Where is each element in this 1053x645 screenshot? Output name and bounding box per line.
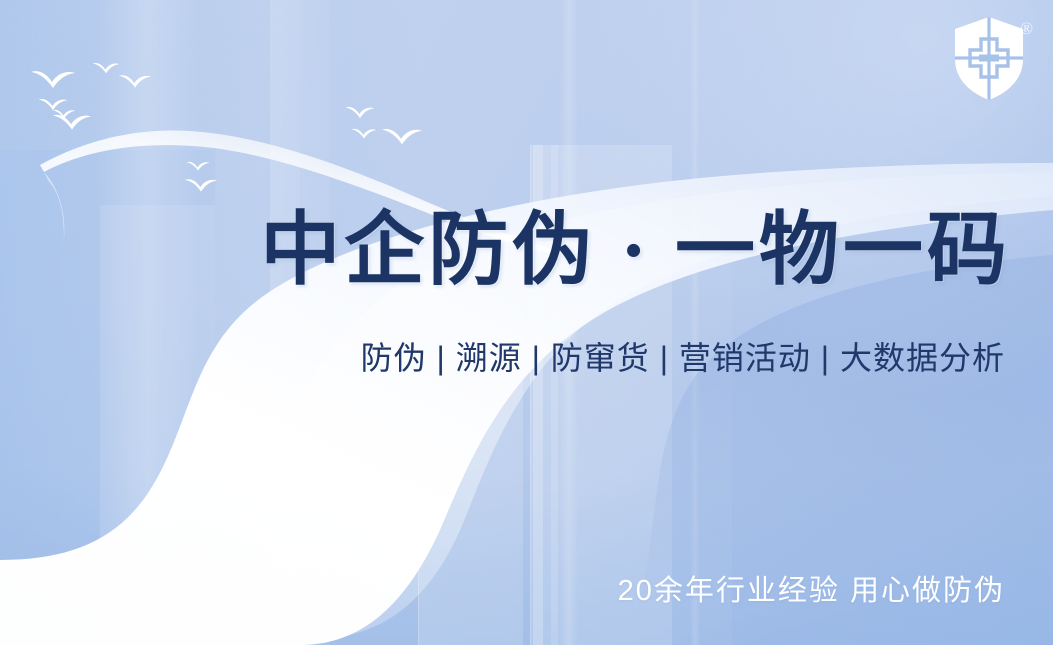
seagull-icon bbox=[52, 112, 92, 135]
brand-logo: ® bbox=[943, 12, 1035, 104]
banner-title: 中企防伪 · 一物一码 bbox=[0, 185, 1011, 301]
seagull-icon bbox=[118, 73, 152, 92]
seagull-icon bbox=[381, 126, 423, 150]
banner-subtitle: 防伪 | 溯源 | 防窜货 | 营销活动 | 大数据分析 bbox=[0, 333, 1005, 379]
banner-tagline: 20余年行业经验 用心做防伪 bbox=[0, 567, 1005, 609]
seagull-icon bbox=[186, 160, 210, 174]
seagull-icon bbox=[92, 61, 120, 77]
winding-road-ribbon bbox=[0, 0, 1053, 645]
seagull-icon bbox=[351, 127, 377, 142]
registered-trademark-mark: ® bbox=[1020, 20, 1033, 37]
seagull-icon bbox=[30, 68, 76, 94]
seagull-icon bbox=[345, 105, 375, 122]
promo-banner: ® 中企防伪 · 一物一码 防伪 | 溯源 | 防窜货 | 营销活动 | 大数据… bbox=[0, 0, 1053, 645]
